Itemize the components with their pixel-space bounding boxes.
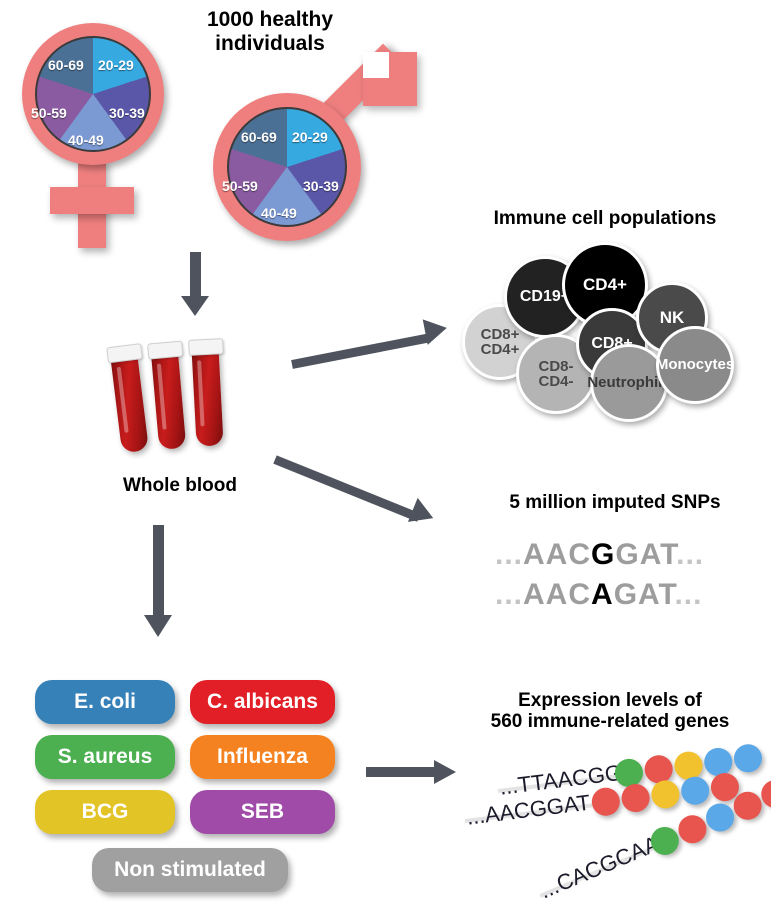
immune-cell-label: Monocytes — [656, 357, 734, 372]
female-symbol-cross — [50, 187, 134, 214]
stimulus-label: S. aureus — [58, 745, 153, 769]
stimulus-box-seb[interactable]: SEB — [190, 790, 335, 834]
stimulus-box-c-albicans[interactable]: C. albicans — [190, 680, 335, 724]
immune-cell-label: NK — [660, 309, 685, 326]
immune-cell-cluster: CD8+ CD4+ CD19+ CD4+ CD8- CD4- CD8+ NK N… — [460, 240, 760, 420]
male-symbol: 20-29 30-39 40-49 50-59 60-69 — [205, 60, 420, 240]
snp-sequence-2: ...AACAGAT... — [495, 578, 702, 612]
female-age-label-40-49: 40-49 — [68, 132, 104, 148]
blood-tubes — [110, 340, 250, 455]
female-age-label-50-59: 50-59 — [31, 105, 67, 121]
cohort-title-line1: 1000 healthy — [170, 8, 370, 32]
tube-body — [191, 345, 223, 446]
arrow-shaft — [190, 252, 201, 298]
stimulus-label: SEB — [241, 800, 284, 824]
whole-blood-label: Whole blood — [85, 475, 275, 496]
stimulus-label: Influenza — [217, 745, 308, 769]
strand-bead — [590, 786, 621, 817]
tube-body — [151, 348, 187, 450]
stimulus-label: C. albicans — [207, 690, 318, 714]
female-age-label-30-39: 30-39 — [109, 105, 145, 121]
snp-left: AAC — [523, 538, 591, 571]
snp-suffix: ... — [674, 578, 702, 611]
arrow-head — [423, 315, 450, 345]
stimulus-box-influenza[interactable]: Influenza — [190, 735, 335, 779]
blood-tube-1 — [110, 351, 149, 454]
snp-left: AAC — [523, 578, 591, 611]
tube-cap — [147, 341, 183, 360]
strand-sequence: ...CACGCAA — [536, 831, 663, 905]
female-symbol: 20-29 30-39 40-49 50-59 60-69 — [10, 15, 190, 245]
stimulus-label: E. coli — [74, 690, 136, 714]
strand-bead — [650, 779, 681, 810]
arrow-shaft — [153, 525, 164, 617]
snp-right: GAT — [614, 578, 675, 611]
arrow-head — [144, 615, 172, 637]
arrow-shaft — [291, 333, 430, 369]
arrow-head — [434, 760, 456, 784]
male-age-label-30-39: 30-39 — [303, 178, 339, 194]
strand-bead — [680, 775, 711, 806]
female-age-label-20-29: 20-29 — [98, 57, 134, 73]
snp-variant: G — [591, 538, 615, 571]
male-age-label-50-59: 50-59 — [222, 178, 258, 194]
snp-sequence-1: ...AACGGAT... — [495, 538, 704, 572]
stimulus-label: Non stimulated — [114, 858, 266, 882]
male-age-label-40-49: 40-49 — [261, 205, 297, 221]
snp-prefix: ... — [495, 538, 523, 571]
immune-title: Immune cell populations — [450, 208, 760, 229]
male-age-label-60-69: 60-69 — [241, 129, 277, 145]
expression-title: Expression levels of 560 immune-related … — [455, 690, 765, 733]
tube-cap — [188, 338, 224, 356]
stimulus-box-bcg[interactable]: BCG — [35, 790, 175, 834]
stimulus-label: BCG — [82, 800, 129, 824]
snp-right: GAT — [615, 538, 676, 571]
arrow-shaft — [366, 767, 436, 777]
snp-suffix: ... — [676, 538, 704, 571]
immune-cell-label: CD4+ — [583, 276, 627, 293]
strand-bead — [620, 782, 651, 813]
stimulus-box-non-stimulated[interactable]: Non stimulated — [92, 848, 288, 892]
expression-title-line2: 560 immune-related genes — [455, 711, 765, 732]
cohort-title-line2: individuals — [170, 32, 370, 56]
snps-title: 5 million imputed SNPs — [465, 492, 765, 513]
expression-title-line1: Expression levels of — [455, 690, 765, 711]
female-age-label-60-69: 60-69 — [48, 57, 84, 73]
stimulus-box-s-aureus[interactable]: S. aureus — [35, 735, 175, 779]
arrow-shaft — [273, 455, 420, 521]
stimulus-box-e-coli[interactable]: E. coli — [35, 680, 175, 724]
cohort-title: 1000 healthy individuals — [170, 8, 370, 55]
snp-variant: A — [591, 578, 614, 611]
male-symbol-arrowhead-notch — [363, 52, 389, 78]
arrow-head — [181, 296, 209, 316]
male-age-label-20-29: 20-29 — [292, 129, 328, 145]
tube-body — [110, 351, 149, 454]
arrow-head — [408, 498, 438, 530]
blood-tube-2 — [151, 348, 187, 450]
immune-cell-monocytes: Monocytes — [656, 326, 734, 404]
blood-tube-3 — [191, 345, 223, 446]
snp-prefix: ... — [495, 578, 523, 611]
